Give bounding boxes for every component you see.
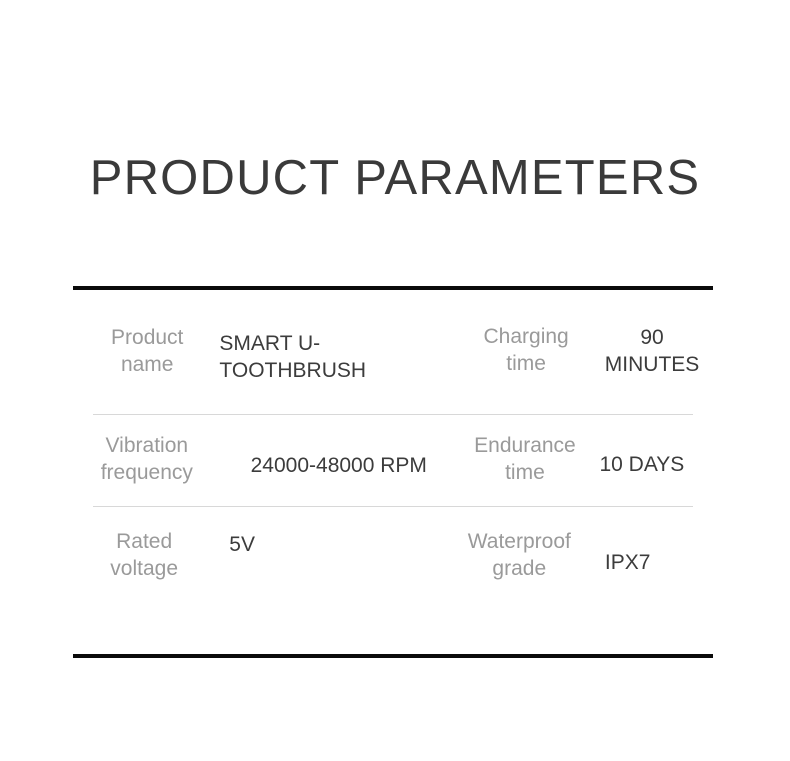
page-title: PRODUCT PARAMETERS	[0, 152, 790, 206]
table-row: Vibration frequency 24000-48000 RPM Endu…	[73, 414, 713, 506]
spec-value-product-name: SMART U-TOOTHBRUSH	[219, 319, 465, 385]
spec-value-vibration-frequency: 24000-48000 RPM	[251, 441, 465, 480]
spec-label-waterproof-grade: Waterproof grade	[462, 529, 577, 583]
row-separator-1	[93, 414, 693, 415]
table-row: Product name SMART U-TOOTHBRUSH Charging…	[73, 290, 713, 414]
row-separator-2	[93, 506, 693, 507]
product-parameters-page: PRODUCT PARAMETERS Product name SMART U-…	[0, 0, 790, 761]
spec-label-product-name: Product name	[91, 325, 203, 379]
spec-table: Product name SMART U-TOOTHBRUSH Charging…	[73, 290, 713, 606]
spec-value-waterproof-grade: IPX7	[605, 536, 713, 577]
table-row: Rated voltage 5V Waterproof grade IPX7	[73, 506, 713, 606]
spec-label-vibration-frequency: Vibration frequency	[91, 433, 203, 487]
spec-label-rated-voltage: Rated voltage	[91, 529, 197, 583]
bottom-divider	[73, 654, 713, 658]
spec-value-endurance-time: 10 DAYS	[599, 441, 713, 479]
spec-value-rated-voltage: 5V	[229, 532, 461, 581]
spec-value-charging-time: 90 MINUTES	[591, 325, 713, 379]
spec-label-endurance-time: Endurance time	[464, 433, 585, 487]
spec-label-charging-time: Charging time	[465, 324, 587, 380]
